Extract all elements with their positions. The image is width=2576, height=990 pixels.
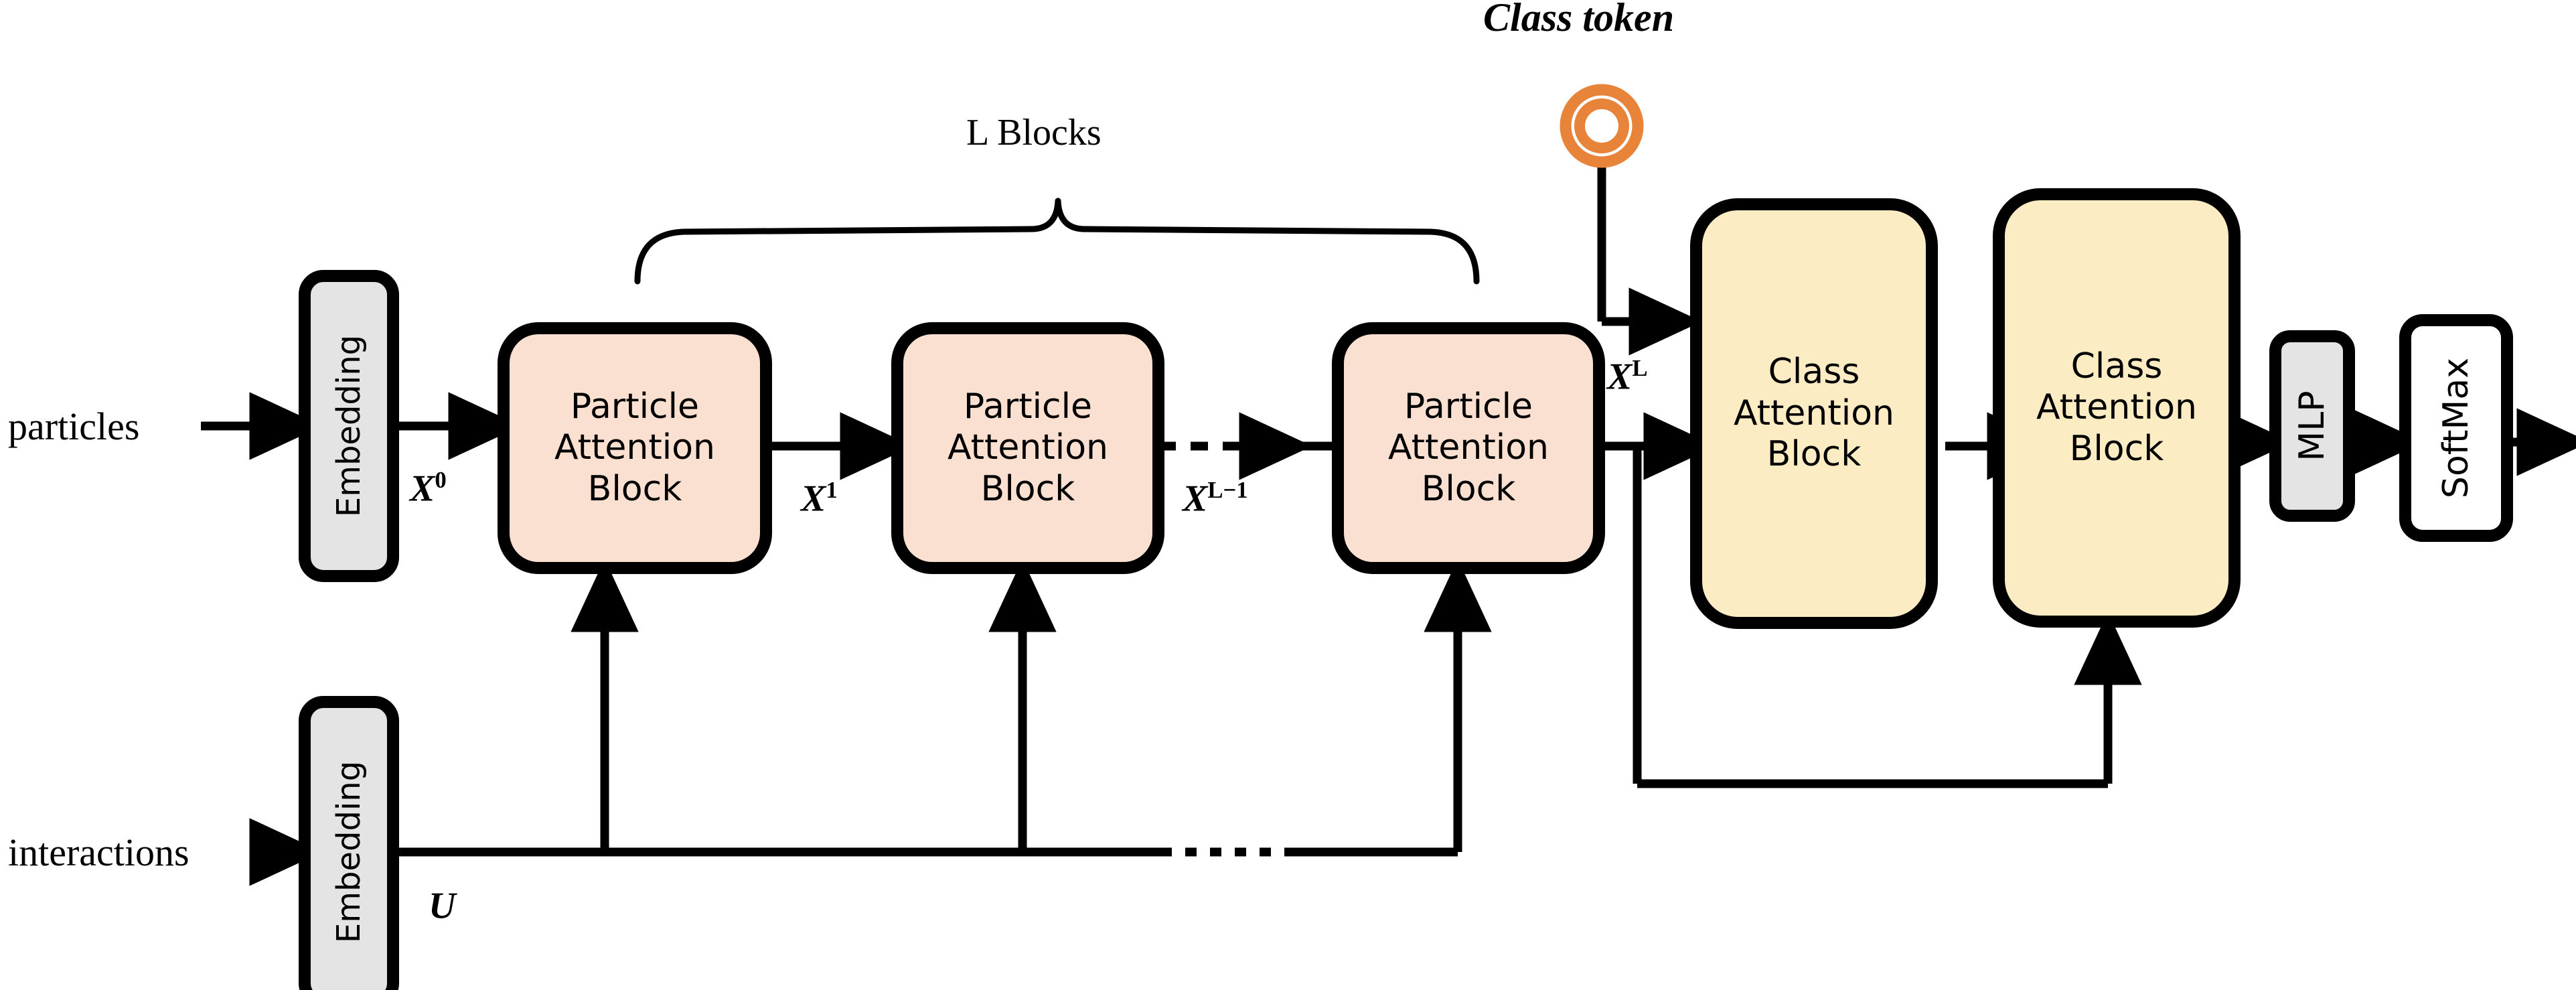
tensor-label-x0: X0 <box>410 467 447 510</box>
l-blocks-brace <box>637 201 1476 281</box>
tensor-label-xlm1: XL−1 <box>1183 477 1248 520</box>
softmax-label: SoftMax <box>2441 331 2471 525</box>
input-label-particles: particles <box>8 404 139 449</box>
class-token-icon <box>1566 90 1638 162</box>
class-attention-block-1-box <box>1696 204 1932 623</box>
embedding-particles-label: Embedding <box>334 322 364 530</box>
tensor-base-xl: X <box>1607 356 1632 398</box>
tensor-base-xlm1: X <box>1183 478 1207 520</box>
tensor-sup-x0: 0 <box>435 467 446 493</box>
tensor-base-x1: X <box>801 478 826 520</box>
particle-attention-block-1-box <box>504 328 766 568</box>
tensor-label-xl: XL <box>1607 355 1648 399</box>
l-blocks-label: L Blocks <box>966 111 1102 154</box>
connector-layer <box>0 0 2576 990</box>
mlp-label: MLP <box>2297 336 2327 516</box>
tensor-label-u: U <box>429 884 455 928</box>
particle-attention-block-l-box <box>1338 328 1599 568</box>
tensor-label-x1: X1 <box>801 477 838 520</box>
class-token-caption: Class token <box>1483 0 1674 41</box>
tensor-base-u: U <box>429 886 455 927</box>
particle-attention-block-2-box <box>897 328 1158 568</box>
tensor-sup-xl: L <box>1632 355 1647 381</box>
input-label-interactions: interactions <box>8 830 190 875</box>
tensor-sup-x1: 1 <box>826 477 837 503</box>
class-attention-block-2-box <box>1999 194 2234 622</box>
embedding-interactions-label: Embedding <box>334 748 364 956</box>
tensor-sup-xlm1: L−1 <box>1207 477 1247 503</box>
tensor-base-x0: X <box>410 468 435 510</box>
architecture-diagram: particles interactions Embedding Embeddi… <box>0 0 2576 990</box>
